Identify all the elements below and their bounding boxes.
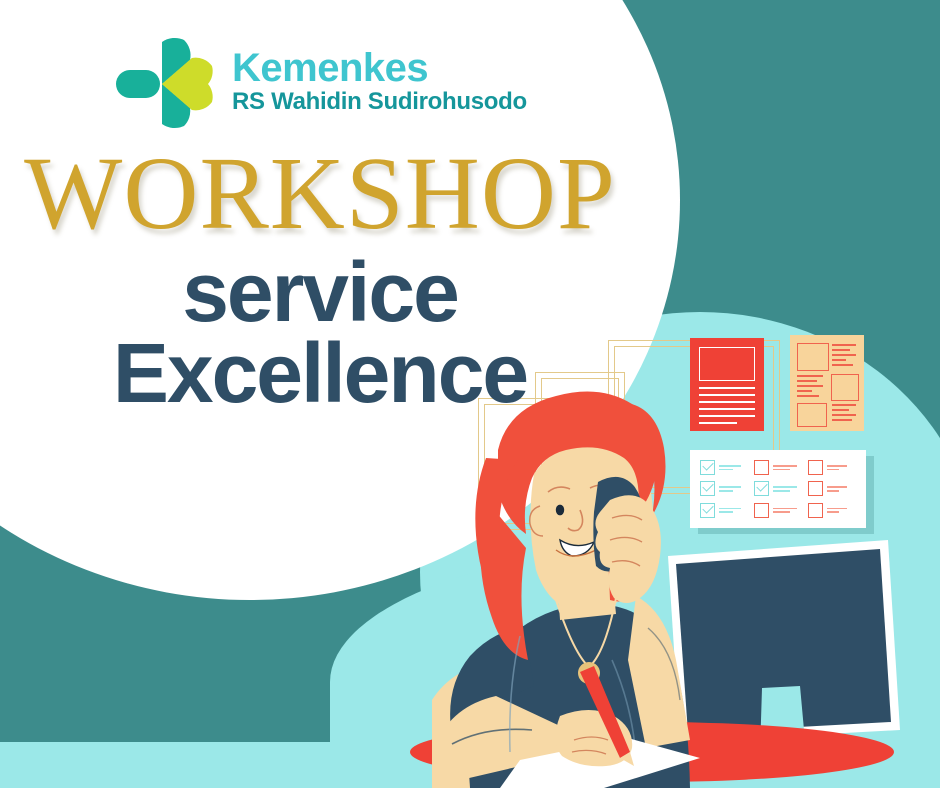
headline-block: WORKSHOP service Excellence bbox=[0, 146, 640, 412]
doc-box-3 bbox=[797, 403, 827, 427]
checklist-item[interactable] bbox=[808, 458, 858, 477]
checklist-item[interactable] bbox=[754, 479, 804, 498]
headline-service: service bbox=[0, 254, 640, 331]
checklist-item[interactable] bbox=[754, 501, 804, 520]
poster-canvas: Kemenkes RS Wahidin Sudirohusodo WORKSHO… bbox=[0, 0, 940, 788]
peach-wall-document bbox=[790, 335, 864, 431]
checkbox-empty-icon[interactable] bbox=[754, 503, 769, 518]
headline-workshop: WORKSHOP bbox=[0, 146, 640, 242]
checklist-item[interactable] bbox=[700, 458, 750, 477]
checklist-item-lines bbox=[827, 486, 858, 492]
checkbox-checked-icon[interactable] bbox=[700, 503, 715, 518]
checkbox-checked-icon[interactable] bbox=[700, 460, 715, 475]
checkbox-empty-icon[interactable] bbox=[808, 481, 823, 496]
checkbox-checked-icon[interactable] bbox=[700, 481, 715, 496]
doc-box-1 bbox=[797, 343, 829, 371]
checklist-item[interactable] bbox=[700, 501, 750, 520]
check-mark-icon bbox=[702, 502, 713, 513]
headline-excellence: Excellence bbox=[0, 335, 640, 412]
checkbox-checked-icon[interactable] bbox=[754, 481, 769, 496]
checklist-grid bbox=[700, 458, 858, 520]
checklist-item[interactable] bbox=[808, 479, 858, 498]
check-mark-icon bbox=[756, 481, 767, 492]
check-mark-icon bbox=[702, 459, 713, 470]
checklist-item-lines bbox=[719, 486, 750, 492]
red-wall-poster bbox=[690, 338, 764, 431]
bottom-aqua-band bbox=[0, 742, 940, 788]
checklist-item[interactable] bbox=[754, 458, 804, 477]
check-mark-icon bbox=[702, 481, 713, 492]
brand-subtitle: RS Wahidin Sudirohusodo bbox=[232, 90, 527, 114]
checklist-item-lines bbox=[827, 508, 858, 514]
red-poster-image-block bbox=[699, 347, 755, 381]
checkbox-empty-icon[interactable] bbox=[754, 460, 769, 475]
checkbox-empty-icon[interactable] bbox=[808, 503, 823, 518]
doc-box-2 bbox=[831, 374, 859, 401]
checklist-item[interactable] bbox=[700, 479, 750, 498]
checklist-item[interactable] bbox=[808, 501, 858, 520]
checklist-item-lines bbox=[719, 465, 750, 471]
kemenkes-flower-logo-icon bbox=[114, 30, 218, 136]
checklist-item-lines bbox=[719, 508, 750, 514]
checklist-item-lines bbox=[773, 465, 804, 471]
checklist-board bbox=[690, 450, 866, 528]
brand-title: Kemenkes bbox=[232, 48, 527, 88]
checklist-item-lines bbox=[773, 486, 804, 492]
brand-logo: Kemenkes RS Wahidin Sudirohusodo bbox=[114, 30, 527, 136]
checklist-item-lines bbox=[827, 465, 858, 471]
checklist-item-lines bbox=[773, 508, 804, 514]
checkbox-empty-icon[interactable] bbox=[808, 460, 823, 475]
